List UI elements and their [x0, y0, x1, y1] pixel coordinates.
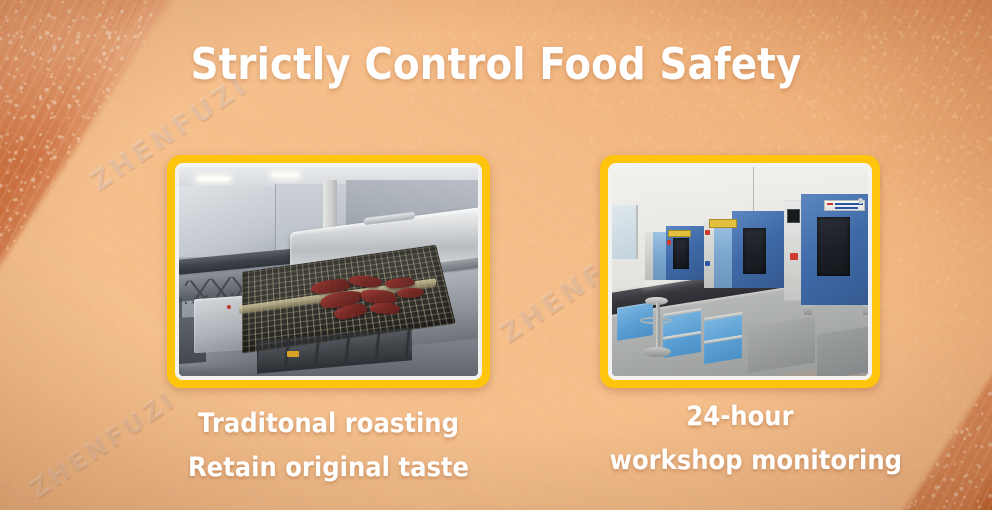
oven-display	[787, 209, 800, 224]
roasting-tunnel-photo	[179, 167, 478, 376]
oven-window	[673, 238, 688, 269]
power-button-icon	[790, 253, 798, 261]
wall-panel-left	[179, 186, 278, 257]
food-safety-banner: ZHENFUZI ZHENFUZI ZHENFUZI Strictly Cont…	[0, 0, 992, 510]
ceiling-light-icon	[197, 177, 230, 181]
caption-line-1: Traditonal roasting	[183, 402, 474, 446]
caption-roasting: Traditonal roasting Retain original tast…	[183, 402, 474, 490]
oven-knob-icon	[858, 198, 863, 203]
photo-card-lab	[600, 155, 880, 388]
photo-frame	[608, 163, 872, 380]
ceiling-light-icon	[272, 173, 299, 177]
warning-tag	[287, 351, 299, 357]
start-button-icon	[705, 261, 710, 266]
oven-label	[668, 230, 691, 237]
caption-line-2: Retain original taste	[183, 446, 474, 490]
indicator-light-icon	[227, 305, 231, 309]
oven-foot	[863, 305, 868, 315]
photo-card-roasting	[167, 155, 490, 388]
oven-window	[743, 228, 766, 274]
oven-window	[817, 217, 850, 276]
lab-window	[612, 205, 638, 259]
power-button-icon	[667, 240, 671, 245]
nameplate-logo	[827, 203, 833, 206]
oven-control-panel	[645, 232, 653, 280]
cabinet-grey	[817, 326, 868, 376]
caption-line-2: workshop monitoring	[610, 439, 871, 483]
stool-base	[643, 347, 671, 357]
power-button-icon	[705, 230, 710, 235]
oven-label	[709, 219, 737, 227]
nameplate-bar	[835, 207, 858, 209]
stool-post	[656, 303, 660, 349]
photo-frame	[175, 163, 482, 380]
caption-line-1: 24-hour	[610, 395, 871, 439]
caption-lab: 24-hour workshop monitoring	[610, 395, 871, 483]
page-title: Strictly Control Food Safety	[60, 40, 933, 90]
laboratory-photo	[612, 167, 868, 376]
oven-foot	[804, 305, 812, 315]
